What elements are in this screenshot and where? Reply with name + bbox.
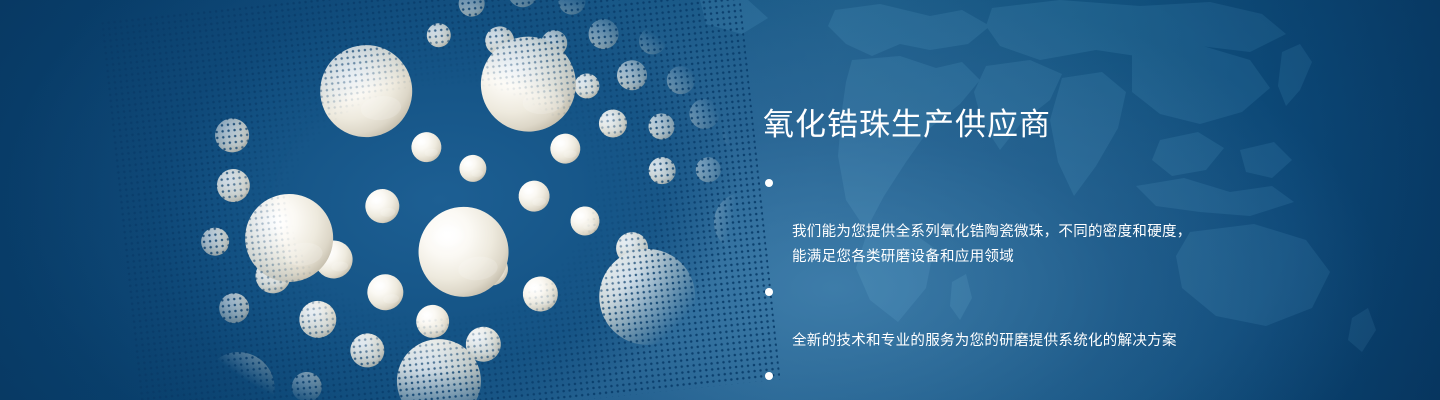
feature-text: 我们能为您提供全系列氧化锆陶瓷微珠，不同的密度和硬度， 能满足您各类研磨设备和应… [792,224,1192,265]
banner-headline: 氧化锆珠生产供应商 [763,108,1233,142]
banner-copy: 氧化锆珠生产供应商 我们能为您提供全系列氧化锆陶瓷微珠，不同的密度和硬度， 能满… [763,108,1233,400]
feature-list-item: 采用国际标准的生产工艺，随时为您提供研磨介质产品 [763,363,1233,400]
bullet-dot-icon [765,288,773,296]
zirconia-beads-image [99,0,780,400]
promo-banner: 氧化锆珠生产供应商 我们能为您提供全系列氧化锆陶瓷微珠，不同的密度和硬度， 能满… [0,0,1440,400]
feature-text: 全新的技术和专业的服务为您的研磨提供系统化的解决方案 [792,333,1177,349]
feature-list-item: 我们能为您提供全系列氧化锆陶瓷微珠，不同的密度和硬度， 能满足您各类研磨设备和应… [763,170,1233,270]
feature-list-item: 全新的技术和专业的服务为您的研磨提供系统化的解决方案 [763,279,1233,354]
bullet-dot-icon [765,372,773,380]
bullet-dot-icon [765,179,773,187]
feature-list: 我们能为您提供全系列氧化锆陶瓷微珠，不同的密度和硬度， 能满足您各类研磨设备和应… [763,170,1233,400]
